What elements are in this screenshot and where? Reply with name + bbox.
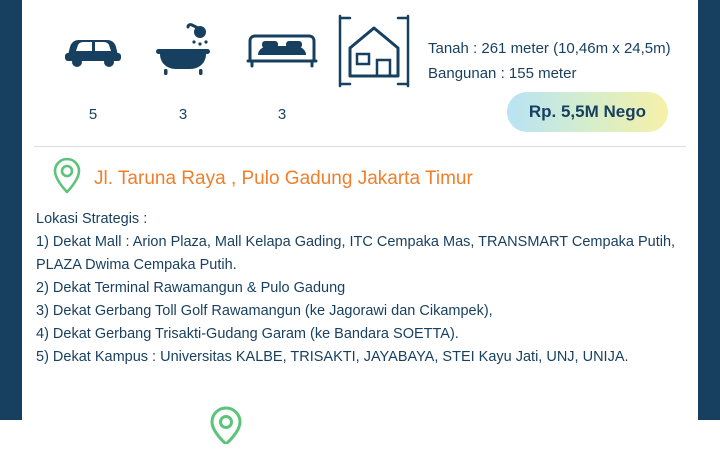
building-size-label: Bangunan : 155 meter <box>428 61 671 86</box>
address-row: Jl. Taruna Raya , Pulo Gadung Jakarta Ti… <box>52 156 473 201</box>
description-line: 4) Dekat Gerbang Trisakti-Gudang Garam (… <box>36 323 692 346</box>
section-divider <box>34 146 686 147</box>
description-line: 5) Dekat Kampus : Universitas KALBE, TRI… <box>36 346 692 369</box>
description-line: 1) Dekat Mall : Arion Plaza, Mall Kelapa… <box>36 231 692 254</box>
description-block: Lokasi Strategis : 1) Dekat Mall : Arion… <box>36 208 692 369</box>
description-line: 2) Dekat Terminal Rawamangun & Pulo Gadu… <box>36 277 692 300</box>
right-rail <box>698 0 720 420</box>
address-label: Jl. Taruna Raya , Pulo Gadung Jakarta Ti… <box>94 168 473 190</box>
spec-carport-count: 5 <box>50 106 136 123</box>
card-content: 5 3 <box>22 0 698 420</box>
bed-icon <box>234 18 330 80</box>
price-badge: Rp. 5,5M Nego <box>507 92 668 132</box>
car-icon <box>50 18 136 80</box>
spec-bathroom-count: 3 <box>140 106 226 123</box>
spec-carport: 5 <box>50 18 136 123</box>
spec-bathroom: 3 <box>140 18 226 123</box>
bottom-location-pin-icon <box>208 404 244 449</box>
property-size-block: Tanah : 261 meter (10,46m x 24,5m) Bangu… <box>332 14 671 88</box>
spec-bedroom-count: 3 <box>234 106 330 123</box>
listing-card: 5 3 <box>0 0 720 420</box>
house-icon <box>332 14 416 88</box>
spec-bedroom: 3 <box>234 18 330 123</box>
left-rail <box>0 0 22 420</box>
description-line: 3) Dekat Gerbang Toll Golf Rawamangun (k… <box>36 300 692 323</box>
bathtub-icon <box>140 18 226 80</box>
location-pin-icon <box>52 156 82 201</box>
description-line: PLAZA Dwima Cempaka Putih. <box>36 254 692 277</box>
size-text-group: Tanah : 261 meter (10,46m x 24,5m) Bangu… <box>428 14 671 86</box>
land-size-label: Tanah : 261 meter (10,46m x 24,5m) <box>428 36 671 61</box>
description-heading: Lokasi Strategis : <box>36 208 692 231</box>
